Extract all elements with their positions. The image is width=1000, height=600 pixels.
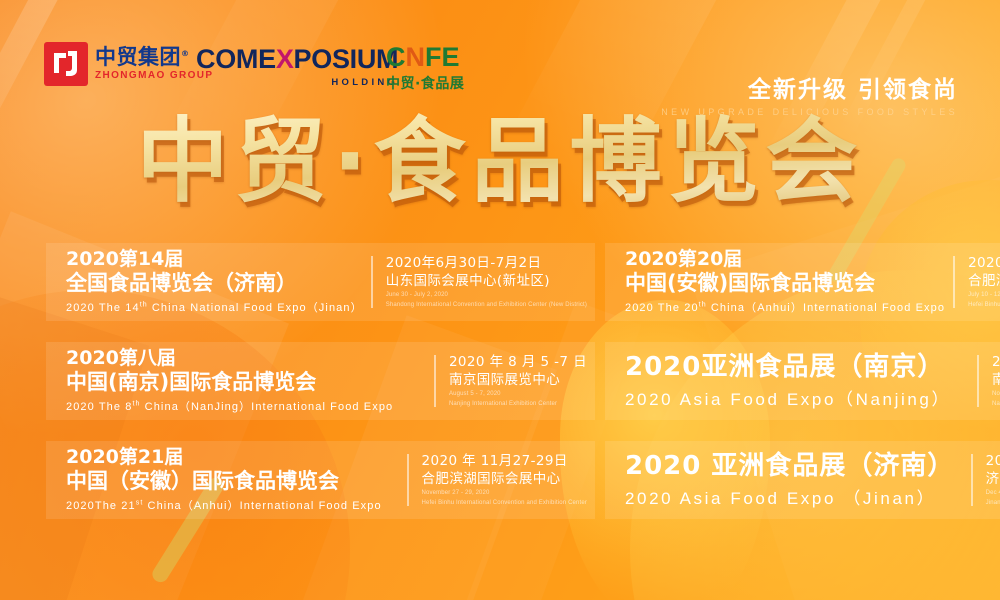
event-card-details: 2020 年 12 月 4-6 日 济南国际会展中心 Dec 4 - 6, 20… (973, 441, 1000, 519)
event-card[interactable]: 2020亚洲食品展（南京） 2020 Asia Food Expo（Nanjin… (605, 342, 1000, 420)
event-card-details: 2020 年 8 月 5 -7 日 南京国际展览中心 August 5 - 7,… (436, 342, 595, 420)
event-venue-en: Nanjing International Exhibition Center (992, 400, 1000, 409)
cnfe-n-icon: N (406, 42, 426, 72)
event-card-details: 2020年6月30日-7月2日 山东国际会展中心(新址区) June 30 - … (373, 243, 595, 321)
zhongmao-dragon-icon (44, 42, 88, 86)
event-date-cn: 2020年6月30日-7月2日 (386, 254, 587, 272)
page-title: 中贸·食品博览会 (0, 112, 1000, 211)
event-card-details: 2020 年 11月27-29日 合肥滨湖国际会展中心 November 27 … (409, 441, 595, 519)
event-venue-cn: 南京国际展览中心 (449, 371, 587, 389)
event-card-main: 2020第21届 中国（安徽）国际食品博览会 2020The 21st Chin… (46, 441, 407, 519)
event-card-grid: 2020第14届 全国食品博览会（济南） 2020 The 14th China… (46, 243, 954, 519)
event-card-main: 2020 亚洲食品展（济南） 2020 Asia Food Expo （Jina… (605, 441, 971, 519)
event-title-en: 2020The 21st China（Anhui）International F… (66, 497, 399, 513)
event-venue-cn: 南京国际展览中心 (992, 371, 1000, 389)
comexposium-wordmark: COMEXPOSIUM (196, 46, 398, 73)
event-title-line1: 2020第21届 (66, 447, 399, 469)
event-title-en: 2020 The 14th China National Food Expo（J… (66, 299, 363, 315)
event-card[interactable]: 2020 亚洲食品展（济南） 2020 Asia Food Expo （Jina… (605, 441, 1000, 519)
event-card[interactable]: 2020第14届 全国食品博览会（济南） 2020 The 14th China… (46, 243, 595, 321)
event-card[interactable]: 2020第20届 中国(安徽)国际食品博览会 2020 The 20th Chi… (605, 243, 1000, 321)
event-card-details: 2020 年 7月10-12 日 合肥滨湖国际会展中心 July 10 - 12… (955, 243, 1000, 321)
zhongmao-name-cn: 中贸集团 (95, 45, 181, 69)
comexposium-pre: COME (196, 44, 276, 74)
event-card-main: 2020第20届 中国(安徽)国际食品博览会 2020 The 20th Chi… (605, 243, 953, 321)
event-date-en: November 20 - 22, 2020 (992, 390, 1000, 399)
event-title-line1: 2020第八届 (66, 348, 426, 370)
event-card[interactable]: 2020第八届 中国(南京)国际食品博览会 2020 The 8th China… (46, 342, 595, 420)
event-venue-en: Nanjing International Exhibition Center (449, 400, 587, 409)
event-title-line2: 中国（安徽）国际食品博览会 (66, 469, 399, 494)
event-title-line2: 中国(安徽)国际食品博览会 (625, 271, 945, 296)
logo-bar: 中贸集团® ZHONGMAO GROUP COMEXPOSIUM HOLDING… (0, 34, 1000, 96)
event-venue-en: Hefei Binhu International Convention and… (422, 499, 587, 508)
event-title-line2: 2020亚洲食品展（南京） (625, 352, 969, 383)
event-card-details: 2020年11月20-22 日 南京国际展览中心 November 20 - 2… (979, 342, 1000, 420)
event-card-main: 2020第八届 中国(南京)国际食品博览会 2020 The 8th China… (46, 342, 434, 420)
event-date-cn: 2020 年 8 月 5 -7 日 (449, 353, 587, 371)
logo-cnfe[interactable]: CNFE 中贸·食品展 (386, 44, 464, 93)
comexposium-x-icon: X (276, 44, 294, 74)
logo-comexposium[interactable]: COMEXPOSIUM HOLDING (196, 46, 398, 88)
cnfe-subtitle: 中贸·食品展 (386, 73, 464, 93)
cnfe-c: C (386, 42, 406, 72)
event-title-en: 2020 The 8th China（NanJing）International… (66, 398, 426, 414)
event-title-en: 2020 Asia Food Expo（Nanjing） (625, 385, 969, 410)
event-card-main: 2020亚洲食品展（南京） 2020 Asia Food Expo（Nanjin… (605, 342, 977, 420)
event-title-en: 2020 Asia Food Expo （Jinan） (625, 484, 963, 509)
event-date-cn: 2020 年 11月27-29日 (422, 452, 587, 470)
event-date-cn: 2020 年 12 月 4-6 日 (986, 452, 1000, 470)
event-card[interactable]: 2020第21届 中国（安徽）国际食品博览会 2020The 21st Chin… (46, 441, 595, 519)
event-venue-en: Shandong International Convention and Ex… (386, 301, 587, 310)
event-venue-en: Hefei Binhu International Convention and… (968, 301, 1000, 310)
comexposium-post: POSIUM (294, 44, 399, 74)
event-title-line1: 2020第14届 (66, 249, 363, 271)
event-title-line2: 2020 亚洲食品展（济南） (625, 451, 963, 482)
event-date-en: August 5 - 7, 2020 (449, 390, 587, 399)
event-title-line2: 全国食品博览会（济南） (66, 271, 363, 296)
event-venue-cn: 济南国际会展中心 (986, 470, 1000, 488)
registered-mark-icon: ® (181, 49, 190, 58)
cnfe-wordmark: CNFE (386, 44, 460, 71)
event-venue-cn: 合肥滨湖国际会展中心 (422, 470, 587, 488)
event-venue-cn: 山东国际会展中心(新址区) (386, 272, 587, 290)
slogan-chinese: 全新升级 引领食尚 (661, 78, 958, 103)
logo-zhongmao-group[interactable]: 中贸集团® ZHONGMAO GROUP (44, 42, 214, 86)
event-date-en: July 10 - 12, 2020 (968, 291, 1000, 300)
event-date-en: Dec 4 - 6, 2020 (986, 489, 1000, 498)
banner-canvas: 中贸集团® ZHONGMAO GROUP COMEXPOSIUM HOLDING… (0, 0, 1000, 600)
event-date-cn: 2020 年 7月10-12 日 (968, 254, 1000, 272)
cnfe-fe: FE (425, 42, 460, 72)
event-date-en: November 27 - 29, 2020 (422, 489, 587, 498)
event-venue-cn: 合肥滨湖国际会展中心 (968, 272, 1000, 290)
event-title-line1: 2020第20届 (625, 249, 945, 271)
event-venue-en: Jinan International Convention and Exhib… (986, 499, 1000, 508)
event-card-main: 2020第14届 全国食品博览会（济南） 2020 The 14th China… (46, 243, 371, 321)
event-date-en: June 30 - July 2, 2020 (386, 291, 587, 300)
event-date-cn: 2020年11月20-22 日 (992, 353, 1000, 371)
event-title-en: 2020 The 20th China（Anhui）International … (625, 299, 945, 315)
event-title-line2: 中国(南京)国际食品博览会 (66, 370, 426, 395)
